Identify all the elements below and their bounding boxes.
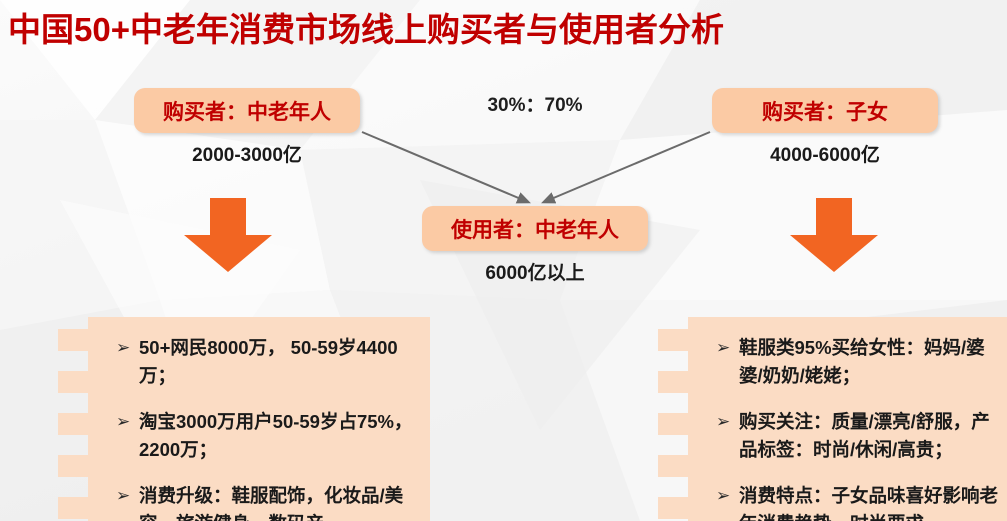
comb-edge-decoration xyxy=(58,317,90,521)
insight-panel-left: ➢ 50+网民8000万， 50-59岁4400万； ➢ 淘宝3000万用户50… xyxy=(58,317,430,521)
page-title: 中国50+中老年消费市场线上购买者与使用者分析 xyxy=(8,8,724,52)
list-item: ➢ 消费特点：子女品味喜好影响老年消费趋势，时尚要求 xyxy=(716,482,1007,521)
bullet-arrow-icon: ➢ xyxy=(116,408,139,436)
list-item-text: 50+网民8000万， 50-59岁4400万； xyxy=(139,334,426,390)
node-buyer-elderly[interactable]: 购买者：中老年人 xyxy=(134,88,360,133)
list-item-text: 鞋服类95%买给女性：妈妈/婆婆/奶奶/姥姥； xyxy=(739,334,1007,390)
list-item-text: 淘宝3000万用户50-59岁占75%，2200万； xyxy=(139,408,426,464)
list-item: ➢ 淘宝3000万用户50-59岁占75%，2200万； xyxy=(116,408,426,464)
bullet-arrow-icon: ➢ xyxy=(716,482,739,510)
down-arrow-icon xyxy=(790,198,878,272)
arrow-connector-icon xyxy=(362,132,528,202)
insight-panel-left-bullets: ➢ 50+网民8000万， 50-59岁4400万； ➢ 淘宝3000万用户50… xyxy=(116,334,426,521)
node-user-elderly-label: 使用者：中老年人 xyxy=(451,214,619,244)
bullet-arrow-icon: ➢ xyxy=(116,334,139,362)
node-buyer-children-amount: 4000-6000亿 xyxy=(712,140,938,167)
insight-panel-right-bullets: ➢ 鞋服类95%买给女性：妈妈/婆婆/奶奶/姥姥； ➢ 购买关注：质量/漂亮/舒… xyxy=(716,334,1007,521)
node-buyer-children[interactable]: 购买者：子女 xyxy=(712,88,938,133)
node-buyer-elderly-label: 购买者：中老年人 xyxy=(163,96,331,126)
title-band: 中国50+中老年消费市场线上购买者与使用者分析 xyxy=(0,0,1007,62)
bullet-arrow-icon: ➢ xyxy=(116,482,139,510)
list-item: ➢ 鞋服类95%买给女性：妈妈/婆婆/奶奶/姥姥； xyxy=(716,334,1007,390)
list-item: ➢ 50+网民8000万， 50-59岁4400万； xyxy=(116,334,426,390)
node-buyer-children-label: 购买者：子女 xyxy=(762,96,888,126)
down-arrow-icon xyxy=(184,198,272,272)
node-user-elderly[interactable]: 使用者：中老年人 xyxy=(422,206,648,251)
ratio-label: 30%：70% xyxy=(425,90,645,117)
bullet-arrow-icon: ➢ xyxy=(716,408,739,436)
bullet-arrow-icon: ➢ xyxy=(716,334,739,362)
node-user-elderly-amount: 6000亿以上 xyxy=(422,258,648,285)
arrow-connector-icon xyxy=(544,132,710,202)
comb-edge-decoration xyxy=(658,317,690,521)
list-item-text: 消费特点：子女品味喜好影响老年消费趋势，时尚要求 xyxy=(739,482,1007,521)
list-item-text: 购买关注：质量/漂亮/舒服，产品标签：时尚/休闲/高贵； xyxy=(739,408,1007,464)
node-buyer-elderly-amount: 2000-3000亿 xyxy=(134,140,360,167)
list-item-text: 消费升级：鞋服配饰，化妆品/美容，旅游健身，数码产 xyxy=(139,482,426,521)
insight-panel-right: ➢ 鞋服类95%买给女性：妈妈/婆婆/奶奶/姥姥； ➢ 购买关注：质量/漂亮/舒… xyxy=(658,317,1007,521)
slide-canvas: 中国50+中老年消费市场线上购买者与使用者分析 购买者：中老年人 2000-30… xyxy=(0,0,1007,521)
list-item: ➢ 消费升级：鞋服配饰，化妆品/美容，旅游健身，数码产 xyxy=(116,482,426,521)
list-item: ➢ 购买关注：质量/漂亮/舒服，产品标签：时尚/休闲/高贵； xyxy=(716,408,1007,464)
